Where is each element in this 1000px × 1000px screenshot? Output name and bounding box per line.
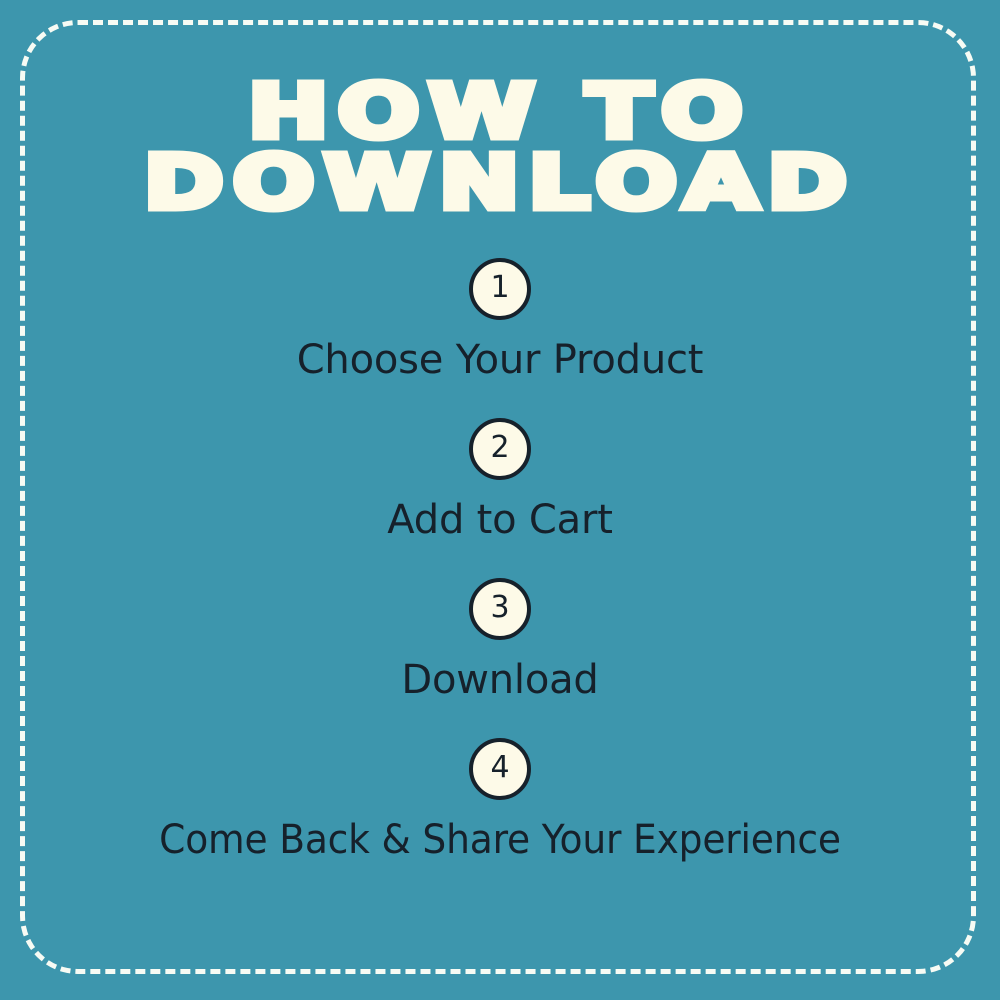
step-number-2: 2 bbox=[490, 433, 509, 463]
step-number-4: 4 bbox=[490, 753, 509, 783]
step-item-2: 2 Add to Cart bbox=[0, 418, 1000, 542]
step-label-1: Choose Your Product bbox=[0, 338, 1000, 382]
page-title: HOW TO DOWNLOAD bbox=[0, 78, 1000, 218]
step-label-3: Download bbox=[0, 658, 1000, 702]
steps-list: 1 Choose Your Product 2 Add to Cart 3 Do… bbox=[0, 258, 1000, 898]
title-line-2: DOWNLOAD bbox=[0, 149, 1000, 218]
step-number-1: 1 bbox=[490, 273, 509, 303]
title-line-1: HOW TO bbox=[0, 78, 1000, 147]
step-number-3: 3 bbox=[490, 593, 509, 623]
step-item-3: 3 Download bbox=[0, 578, 1000, 702]
step-item-4: 4 Come Back & Share Your Experience bbox=[0, 738, 1000, 862]
step-badge-4: 4 bbox=[469, 738, 531, 800]
step-badge-3: 3 bbox=[469, 578, 531, 640]
step-badge-2: 2 bbox=[469, 418, 531, 480]
step-badge-1: 1 bbox=[469, 258, 531, 320]
step-item-1: 1 Choose Your Product bbox=[0, 258, 1000, 382]
step-label-2: Add to Cart bbox=[0, 498, 1000, 542]
poster-canvas: HOW TO DOWNLOAD 1 Choose Your Product 2 … bbox=[0, 0, 1000, 1000]
step-label-4: Come Back & Share Your Experience bbox=[30, 818, 970, 862]
